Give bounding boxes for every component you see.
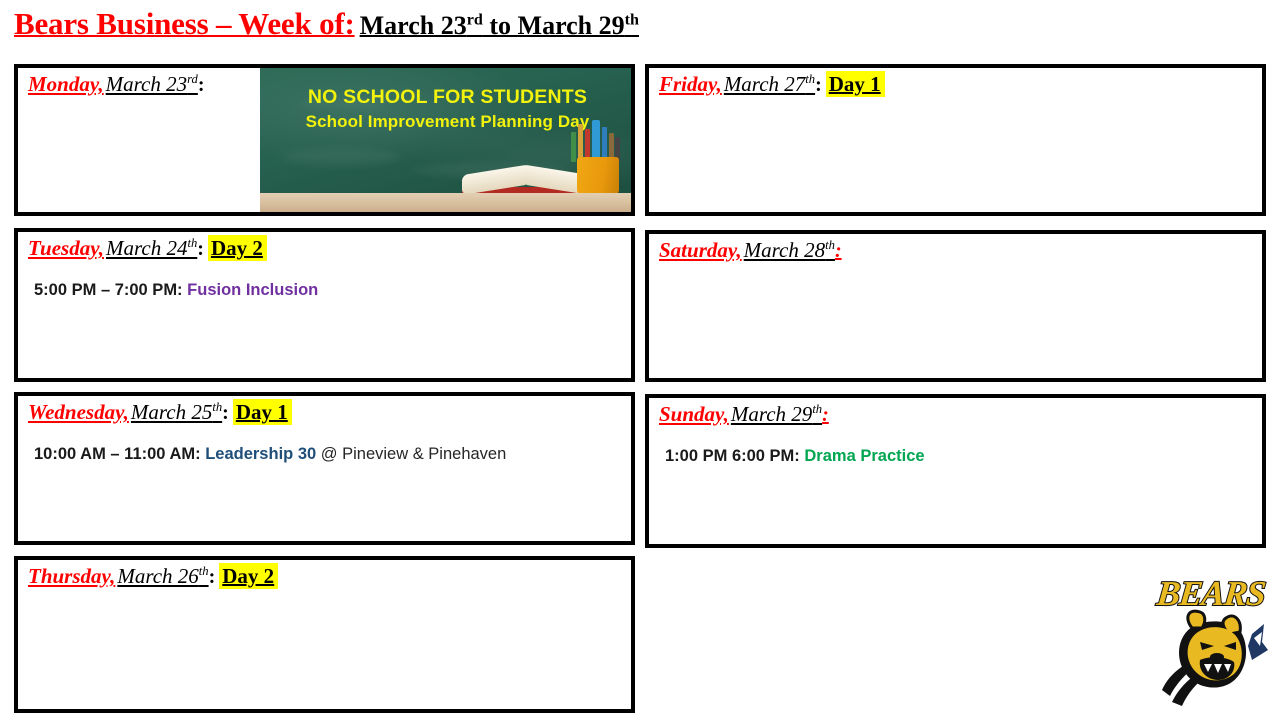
events-list: 10:00 AM – 11:00 AM: Leadership 30 @ Pin… bbox=[34, 442, 631, 468]
day-date-ordinal: th bbox=[812, 402, 822, 416]
day-colon: : bbox=[822, 404, 829, 426]
day-date: March 25th bbox=[131, 400, 222, 424]
chalk-smudge bbox=[280, 148, 400, 166]
bears-mascot-logo: BEARS bbox=[1148, 572, 1272, 710]
day-heading: Saturday,March 28th: bbox=[659, 239, 1262, 269]
day-box-wednesday[interactable]: Wednesday,March 25th:Day 1 10:00 AM – 11… bbox=[14, 392, 635, 545]
day-cycle-badge: Day 1 bbox=[826, 71, 885, 97]
open-book-graphic bbox=[460, 169, 592, 195]
day-date-ordinal: th bbox=[212, 400, 222, 414]
day-date: March 23rd bbox=[106, 72, 198, 96]
day-box-thursday[interactable]: Thursday,March 26th:Day 2 bbox=[14, 556, 635, 713]
day-date: March 24th bbox=[106, 236, 197, 260]
day-colon: : bbox=[209, 566, 216, 588]
day-date: March 29th bbox=[731, 402, 822, 426]
event-time: 5:00 PM – 7:00 PM: bbox=[34, 281, 183, 299]
day-date-text: March 25 bbox=[131, 400, 212, 424]
day-date-text: March 27 bbox=[724, 72, 805, 96]
day-name: Sunday, bbox=[659, 402, 729, 426]
page-title: Bears Business – Week of: bbox=[14, 6, 355, 41]
day-heading: Sunday,March 29th: bbox=[659, 403, 1262, 433]
event-row[interactable]: 1:00 PM 6:00 PM: Drama Practice bbox=[665, 444, 1262, 470]
week-range-end-suffix: th bbox=[625, 11, 639, 28]
day-colon: : bbox=[198, 74, 205, 96]
day-heading: Wednesday,March 25th:Day 1 bbox=[28, 401, 631, 431]
day-box-sunday[interactable]: Sunday,March 29th: 1:00 PM 6:00 PM: Dram… bbox=[645, 394, 1266, 548]
week-range-start: March 23 bbox=[360, 11, 467, 40]
event-title: Leadership 30 bbox=[205, 445, 316, 463]
day-cycle-badge: Day 1 bbox=[233, 399, 292, 425]
event-location: @ Pineview & Pinehaven bbox=[321, 445, 507, 463]
day-date-text: March 26 bbox=[117, 564, 198, 588]
event-row[interactable]: 5:00 PM – 7:00 PM: Fusion Inclusion bbox=[34, 278, 631, 304]
day-name: Thursday, bbox=[28, 564, 115, 588]
day-heading: Tuesday,March 24th:Day 2 bbox=[28, 237, 631, 267]
day-colon: : bbox=[815, 74, 822, 96]
day-date-text: March 28 bbox=[744, 238, 825, 262]
day-date-ordinal: th bbox=[805, 72, 815, 86]
day-date-text: March 23 bbox=[106, 72, 187, 96]
week-date-range: March 23rd to March 29th bbox=[360, 11, 639, 40]
week-range-start-suffix: rd bbox=[467, 11, 483, 28]
day-cycle-badge: Day 2 bbox=[208, 235, 267, 261]
day-date-text: March 24 bbox=[106, 236, 187, 260]
day-date: March 28th bbox=[744, 238, 835, 262]
day-name: Wednesday, bbox=[28, 400, 129, 424]
day-date-ordinal: th bbox=[825, 238, 835, 252]
day-name: Friday, bbox=[659, 72, 722, 96]
event-time: 10:00 AM – 11:00 AM: bbox=[34, 445, 201, 463]
day-date-ordinal: rd bbox=[187, 72, 198, 86]
day-date-ordinal: th bbox=[187, 236, 197, 250]
day-colon: : bbox=[222, 402, 229, 424]
day-name: Saturday, bbox=[659, 238, 742, 262]
pencils-graphic bbox=[569, 117, 621, 162]
event-title: Drama Practice bbox=[804, 447, 924, 465]
day-heading: Friday,March 27th:Day 1 bbox=[659, 73, 1262, 103]
day-name: Tuesday, bbox=[28, 236, 104, 260]
day-box-friday[interactable]: Friday,March 27th:Day 1 bbox=[645, 64, 1266, 216]
no-school-chalkboard-image: NO SCHOOL FOR STUDENTS School Improvemen… bbox=[260, 68, 635, 212]
pencil bbox=[571, 132, 576, 162]
page-header: Bears Business – Week of:March 23rd to M… bbox=[14, 6, 639, 42]
week-range-connector: to March 29 bbox=[483, 11, 625, 40]
day-date-text: March 29 bbox=[731, 402, 812, 426]
event-row[interactable]: 10:00 AM – 11:00 AM: Leadership 30 @ Pin… bbox=[34, 442, 631, 468]
events-list: 5:00 PM – 7:00 PM: Fusion Inclusion bbox=[34, 278, 631, 304]
day-colon: : bbox=[835, 240, 842, 262]
day-date-ordinal: th bbox=[199, 564, 209, 578]
day-colon: : bbox=[197, 238, 204, 260]
bears-wordmark: BEARS bbox=[1150, 574, 1272, 614]
day-date: March 26th bbox=[117, 564, 208, 588]
marker bbox=[592, 120, 600, 162]
day-heading: Thursday,March 26th:Day 2 bbox=[28, 565, 631, 595]
pencil-cup bbox=[577, 157, 619, 195]
day-name: Monday, bbox=[28, 72, 104, 96]
day-box-monday[interactable]: Monday,March 23rd: NO SCHOOL FOR STUDENT… bbox=[14, 64, 635, 216]
event-title: Fusion Inclusion bbox=[187, 281, 318, 299]
day-box-saturday[interactable]: Saturday,March 28th: bbox=[645, 230, 1266, 382]
day-date: March 27th bbox=[724, 72, 815, 96]
events-list: 1:00 PM 6:00 PM: Drama Practice bbox=[665, 444, 1262, 470]
day-box-tuesday[interactable]: Tuesday,March 24th:Day 2 5:00 PM – 7:00 … bbox=[14, 228, 635, 382]
chalkboard-line-1: NO SCHOOL FOR STUDENTS bbox=[260, 86, 635, 109]
day-cycle-badge: Day 2 bbox=[219, 563, 278, 589]
desk-surface bbox=[260, 193, 635, 212]
event-time: 1:00 PM 6:00 PM: bbox=[665, 447, 800, 465]
